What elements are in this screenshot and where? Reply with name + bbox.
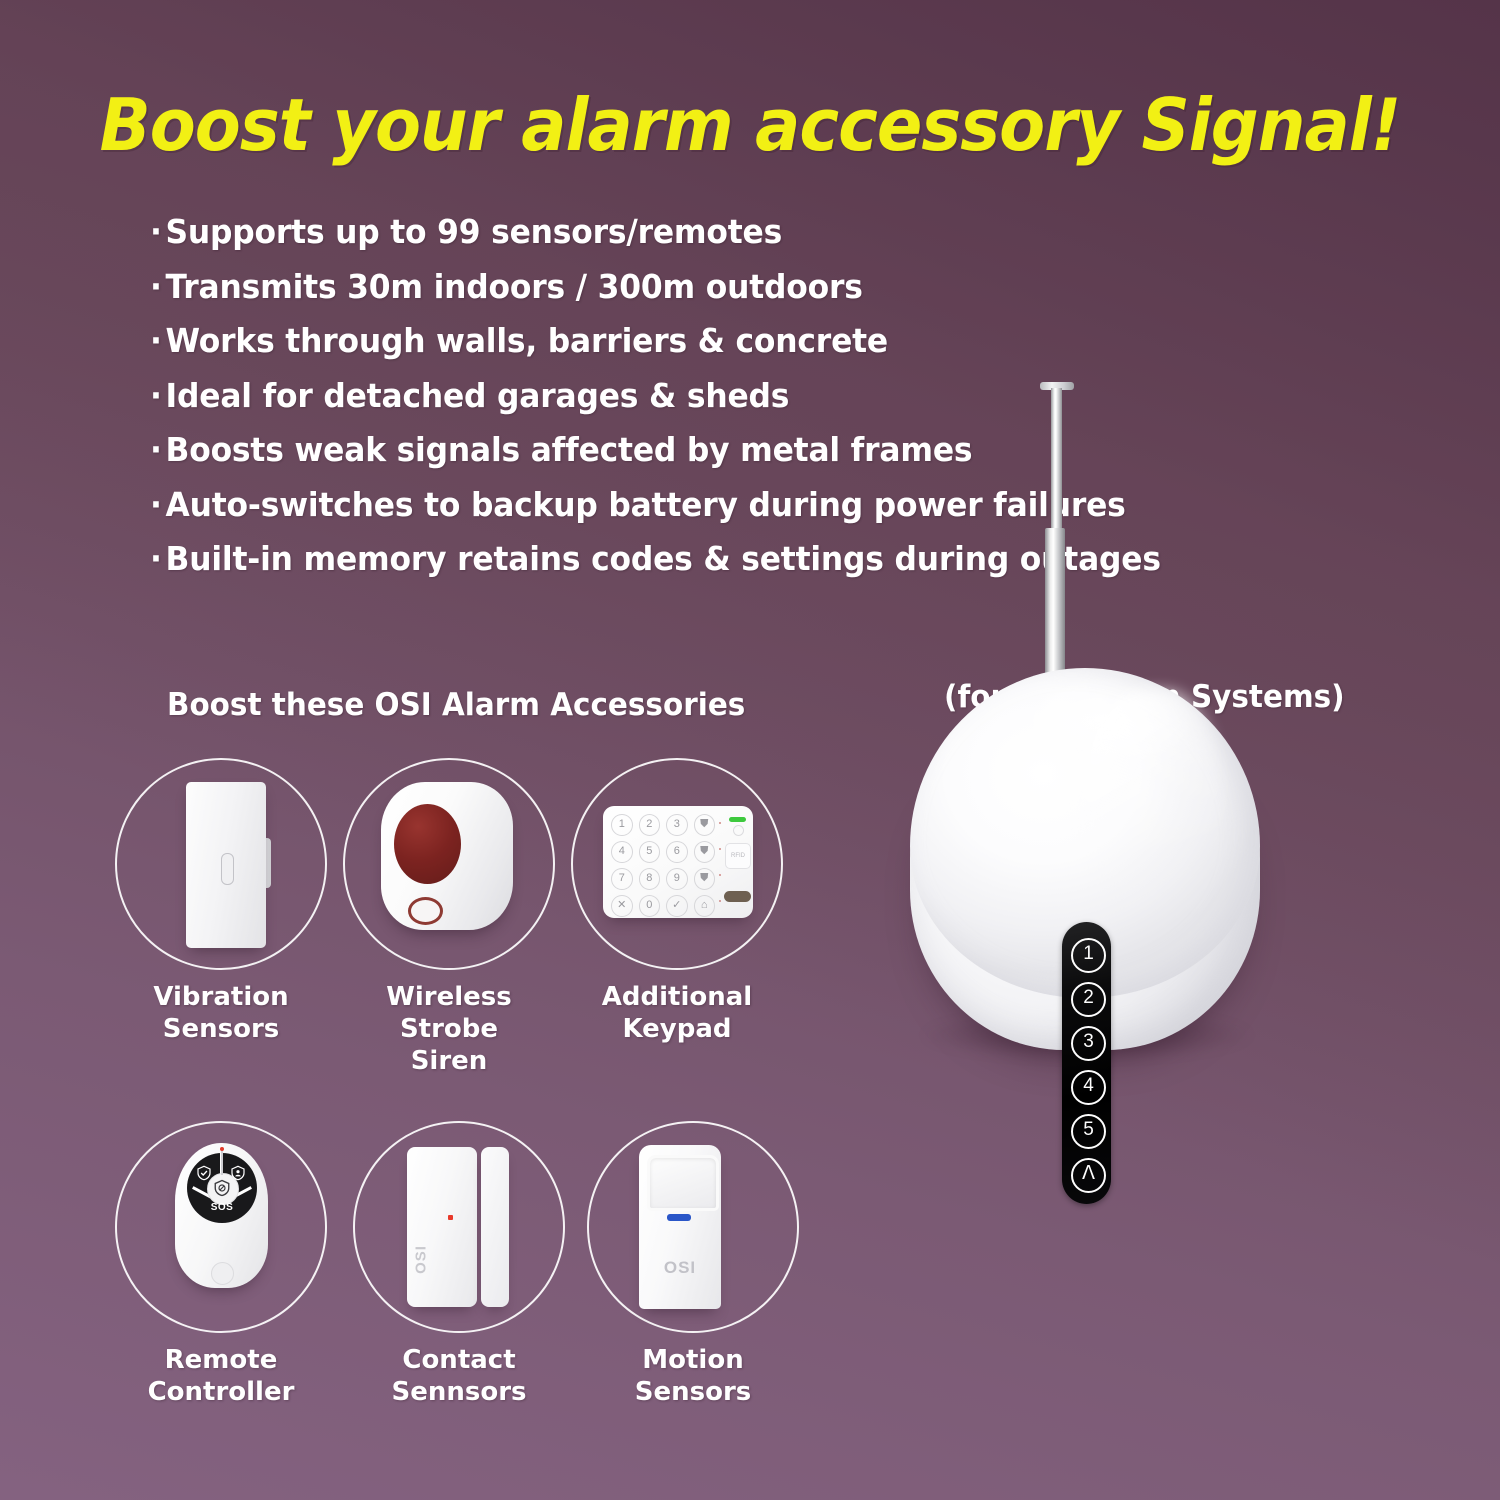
accessory-label-line2: Siren [334,1045,564,1077]
signal-repeater-product-image: 1 2 3 4 5 ᐱ [880,370,1480,1450]
remote-controller-icon: SOS [117,1123,325,1331]
accessory-label-line1: Wireless Strobe [334,981,564,1045]
accessory-label-line2: Sensors [578,1376,808,1408]
led-indicator-signal-icon: ᐱ [1071,1158,1106,1193]
accessory-circle: OSI [353,1121,565,1333]
accessory-label: Additional Keypad [562,981,792,1045]
keypad-key[interactable]: 6 [666,841,688,863]
keypad-key[interactable]: 1 [611,814,633,836]
accessory-label: Wireless Strobe Siren [334,981,564,1077]
shield-disarm-icon [213,1179,231,1197]
led-indicator-4: 4 [1071,1070,1106,1105]
bullet-marker: · [150,430,162,469]
accessory-label-line1: Motion [578,1344,808,1376]
keypad-key[interactable]: 4 [611,841,633,863]
vibration-sensor-icon [117,760,325,968]
accessory-contact-sensors[interactable]: OSI Contact Sennsors [344,1121,574,1408]
list-item: ·Transmits 30m indoors / 300m outdoors [150,260,1243,315]
keypad-key-confirm[interactable]: ✓ [666,895,688,917]
accessory-label: Remote Controller [106,1344,336,1408]
bullet-marker: · [150,321,162,360]
product-poster: Boost your alarm accessory Signal! ·Supp… [0,0,1500,1500]
keypad-key[interactable]: 9 [666,868,688,890]
rfid-reader-icon[interactable]: RFID [725,843,751,869]
accessory-vibration-sensors[interactable]: Vibration Sensors [106,758,336,1045]
keypad-key-bell[interactable]: ⌂ [694,895,716,917]
led-indicator-3: 3 [1071,1026,1106,1061]
list-item: ·Works through walls, barriers & concret… [150,314,1243,369]
motion-sensor-icon: OSI [589,1123,797,1331]
feature-text: Works through walls, barriers & concrete [166,321,888,360]
keypad-key[interactable]: 8 [639,868,661,890]
page-title: Boost your alarm accessory Signal! [53,83,1448,167]
accessory-motion-sensors[interactable]: OSI Motion Sensors [578,1121,808,1408]
contact-sensor-icon: OSI [355,1123,563,1331]
keypad-key-shield[interactable]: ⛊ [694,868,716,890]
accessory-label-line2: Sennsors [344,1376,574,1408]
keypad-key-cancel[interactable]: ✕ [611,895,633,917]
keypad-key[interactable]: 5 [639,841,661,863]
contact-led-icon [448,1215,453,1220]
keypad-key[interactable]: 7 [611,868,633,890]
keypad-key[interactable]: 2 [639,814,661,836]
accessory-label: Vibration Sensors [106,981,336,1045]
keypad-key[interactable]: 3 [666,814,688,836]
motion-led-icon [667,1214,691,1221]
shield-person-icon [230,1165,246,1181]
antenna-segment-upper [1051,388,1062,538]
bullet-marker: · [150,376,162,415]
remote-bottom-button[interactable] [211,1262,234,1285]
bullet-marker: · [150,212,162,251]
accessories-heading: Boost these OSI Alarm Accessories [167,687,745,723]
accessory-remote-controller[interactable]: SOS [106,1121,336,1408]
feature-text: Boosts weak signals affected by metal fr… [166,430,973,469]
accessory-label-line1: Additional [562,981,792,1013]
brand-logo: OSI [413,1238,430,1282]
accessory-label-line1: Vibration [106,981,336,1013]
strobe-siren-icon [345,760,553,968]
bullet-marker: · [150,267,162,306]
accessory-circle: SOS [115,1121,327,1333]
keypad-status-led [729,817,746,822]
feature-text: Ideal for detached garages & sheds [166,376,790,415]
led-indicator-1: 1 [1071,938,1106,973]
remote-led-icon [220,1147,224,1151]
list-item: ·Supports up to 99 sensors/remotes [150,205,1243,260]
led-indicator-strip: 1 2 3 4 5 ᐱ [1062,922,1111,1204]
brand-logo: OSI [639,1258,721,1278]
accessory-wireless-strobe-siren[interactable]: Wireless Strobe Siren [334,758,564,1077]
accessory-circle [115,758,327,970]
accessory-label: Contact Sennsors [344,1344,574,1408]
feature-text: Supports up to 99 sensors/remotes [166,212,783,251]
bullet-marker: · [150,485,162,524]
accessory-label: Motion Sensors [578,1344,808,1408]
accessory-label-line2: Keypad [562,1013,792,1045]
led-indicator-5: 5 [1071,1114,1106,1149]
keypad-power-icon [733,825,744,836]
accessory-additional-keypad[interactable]: 1 2 3 ⛊ 4 5 6 ⛊ 7 8 [562,758,792,1045]
accessory-circle: 1 2 3 ⛊ 4 5 6 ⛊ 7 8 [571,758,783,970]
accessory-label-line2: Sensors [106,1013,336,1045]
accessory-label-line1: Contact [344,1344,574,1376]
bullet-marker: · [150,539,162,578]
sos-label: SOS [187,1202,257,1213]
keypad-key-shield[interactable]: ⛊ [694,814,716,836]
led-indicator-2: 2 [1071,982,1106,1017]
feature-text: Transmits 30m indoors / 300m outdoors [166,267,863,306]
keypad-key[interactable]: 0 [639,895,661,917]
accessory-label-line2: Controller [106,1376,336,1408]
keypad-bottom-bar [724,891,751,902]
accessory-circle: OSI [587,1121,799,1333]
accessory-circle [343,758,555,970]
keypad-icon: 1 2 3 ⛊ 4 5 6 ⛊ 7 8 [573,760,781,968]
shield-check-icon [196,1165,212,1181]
keypad-key-shield[interactable]: ⛊ [694,841,716,863]
accessory-label-line1: Remote [106,1344,336,1376]
